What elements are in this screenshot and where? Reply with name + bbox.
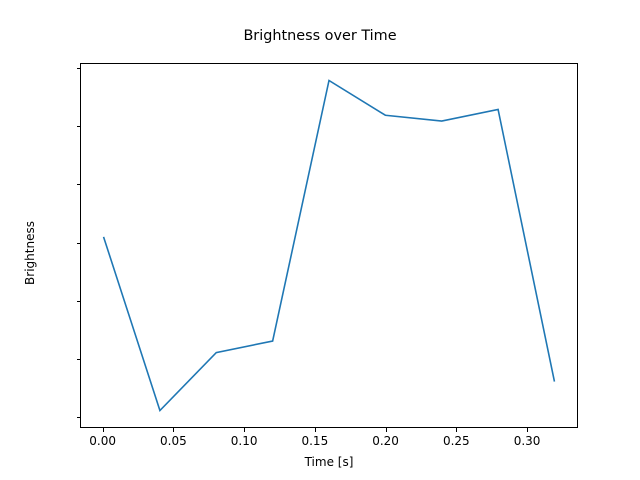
y-axis-label: Brightness — [23, 153, 37, 353]
x-tick-mark — [315, 428, 316, 432]
brightness-line-series — [104, 80, 555, 410]
chart-figure: Brightness over Time Brightness Time [s]… — [0, 0, 640, 480]
x-tick-label: 0.10 — [231, 434, 258, 448]
x-tick-label: 0.00 — [89, 434, 116, 448]
y-tick-mark — [77, 68, 81, 69]
x-tick-mark — [456, 428, 457, 432]
x-tick-label: 0.05 — [160, 434, 187, 448]
x-tick-label: 0.30 — [514, 434, 541, 448]
y-tick-mark — [77, 417, 81, 418]
chart-title: Brightness over Time — [0, 28, 640, 44]
x-tick-mark — [244, 428, 245, 432]
data-line-svg — [81, 64, 577, 427]
y-tick-mark — [77, 126, 81, 127]
x-tick-mark — [103, 428, 104, 432]
x-tick-label: 0.15 — [301, 434, 328, 448]
x-tick-label: 0.25 — [443, 434, 470, 448]
x-tick-label: 0.20 — [372, 434, 399, 448]
y-tick-mark — [77, 359, 81, 360]
x-tick-mark — [527, 428, 528, 432]
x-tick-mark — [173, 428, 174, 432]
plot-area — [80, 63, 578, 428]
y-tick-mark — [77, 301, 81, 302]
x-tick-mark — [386, 428, 387, 432]
y-tick-mark — [77, 184, 81, 185]
y-tick-mark — [77, 243, 81, 244]
x-axis-label: Time [s] — [80, 455, 578, 469]
